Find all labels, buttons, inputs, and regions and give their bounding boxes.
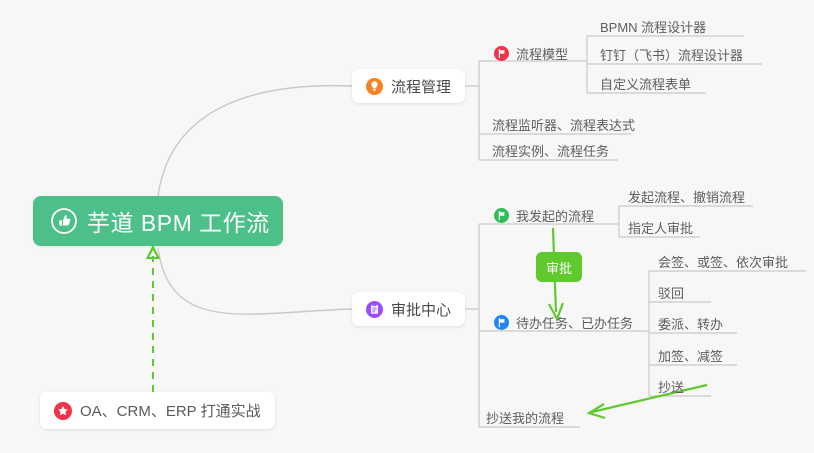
leaf-node-assignee-approval[interactable]: 指定人审批 bbox=[628, 211, 693, 237]
sub-label-my-initiated: 我发起的流程 bbox=[516, 206, 594, 225]
approval-badge[interactable]: 审批 bbox=[536, 252, 582, 282]
footer-node-label: OA、CRM、ERP 打通实战 bbox=[80, 400, 261, 421]
leaf-label: 钉钉（飞书）流程设计器 bbox=[600, 49, 743, 62]
root-label: 芋道 BPM 工作流 bbox=[87, 204, 270, 238]
leaf-node-custom-form[interactable]: 自定义流程表单 bbox=[600, 67, 691, 93]
branch-label-process-management: 流程管理 bbox=[391, 76, 451, 97]
branch-label-approval-center: 审批中心 bbox=[391, 299, 451, 320]
leaf-node-add-remove-sign[interactable]: 加签、减签 bbox=[658, 339, 723, 365]
branch-node-approval-center[interactable]: 审批中心 bbox=[352, 292, 465, 326]
star-icon bbox=[54, 402, 72, 420]
leaf-label: 流程实例、流程任务 bbox=[492, 145, 609, 158]
leaf-label: 会签、或签、依次审批 bbox=[658, 256, 788, 269]
sub-node-todo-done-tasks[interactable]: 待办任务、已办任务 bbox=[494, 309, 633, 335]
root-node[interactable]: 芋道 BPM 工作流 bbox=[33, 196, 283, 246]
flag-icon bbox=[494, 46, 509, 61]
leaf-label: 加签、减签 bbox=[658, 350, 723, 363]
approval-badge-label: 审批 bbox=[546, 258, 572, 277]
leaf-label: 指定人审批 bbox=[628, 222, 693, 235]
leaf-label: 抄送 bbox=[658, 381, 684, 394]
sub-label-process-model: 流程模型 bbox=[516, 44, 568, 63]
leaf-node-bpmn-designer[interactable]: BPMN 流程设计器 bbox=[600, 10, 706, 36]
leaf-node-cc-to-me[interactable]: 抄送我的流程 bbox=[486, 401, 564, 427]
leaf-node-dingtalk-designer[interactable]: 钉钉（飞书）流程设计器 bbox=[600, 38, 743, 64]
sub-node-process-model[interactable]: 流程模型 bbox=[494, 40, 568, 66]
leaf-label: BPMN 流程设计器 bbox=[600, 21, 706, 34]
footer-node-integration[interactable]: OA、CRM、ERP 打通实战 bbox=[40, 392, 275, 429]
flag-icon bbox=[494, 315, 509, 330]
leaf-node-process-listener[interactable]: 流程监听器、流程表达式 bbox=[492, 108, 635, 134]
leaf-label: 委派、转办 bbox=[658, 318, 723, 331]
mindmap-canvas: 芋道 BPM 工作流 流程管理 流程模型 BPMN 流程设计器 钉钉（飞书 bbox=[0, 0, 814, 453]
leaf-label: 自定义流程表单 bbox=[600, 78, 691, 91]
leaf-node-process-instance[interactable]: 流程实例、流程任务 bbox=[492, 134, 609, 160]
clipboard-icon bbox=[366, 301, 383, 318]
leaf-label: 发起流程、撤销流程 bbox=[628, 191, 745, 204]
leaf-node-reject[interactable]: 驳回 bbox=[658, 276, 684, 302]
thumbs-up-icon bbox=[51, 208, 77, 234]
flag-icon bbox=[494, 208, 509, 223]
leaf-node-cc[interactable]: 抄送 bbox=[658, 370, 684, 396]
leaf-node-countersign[interactable]: 会签、或签、依次审批 bbox=[658, 245, 788, 271]
leaf-node-start-cancel-process[interactable]: 发起流程、撤销流程 bbox=[628, 180, 745, 206]
leaf-label: 抄送我的流程 bbox=[486, 412, 564, 425]
sub-node-my-initiated[interactable]: 我发起的流程 bbox=[494, 202, 594, 228]
branch-node-process-management[interactable]: 流程管理 bbox=[352, 69, 465, 103]
leaf-label: 流程监听器、流程表达式 bbox=[492, 119, 635, 132]
leaf-node-delegate-transfer[interactable]: 委派、转办 bbox=[658, 307, 723, 333]
leaf-label: 驳回 bbox=[658, 287, 684, 300]
lightbulb-icon bbox=[366, 78, 383, 95]
sub-label-todo-done-tasks: 待办任务、已办任务 bbox=[516, 313, 633, 332]
